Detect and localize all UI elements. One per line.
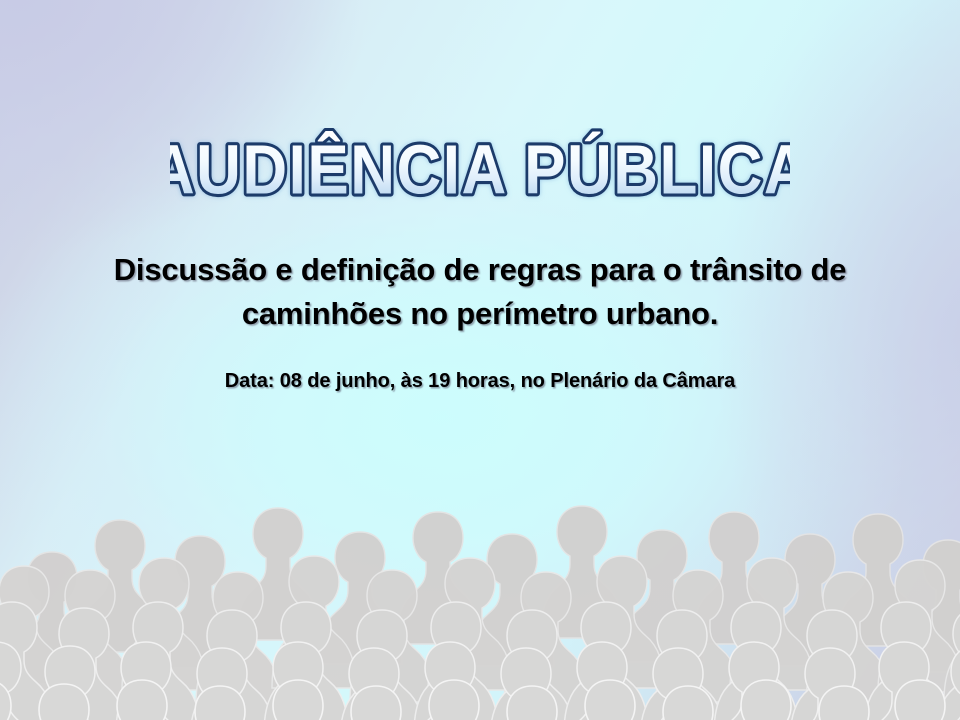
page-title: AUDIÊNCIA PÚBLICA AUDIÊNCIA PÚBLICA <box>0 128 960 214</box>
slide-subtitle-line-1: Discussão e definição de regras para o t… <box>80 248 880 292</box>
page-title-art: AUDIÊNCIA PÚBLICA AUDIÊNCIA PÚBLICA <box>170 128 790 214</box>
slide-subtitle: Discussão e definição de regras para o t… <box>80 248 880 336</box>
slide-subtitle-line-2: caminhões no perímetro urbano. <box>80 292 880 336</box>
page-title-fill: AUDIÊNCIA PÚBLICA <box>170 130 790 208</box>
slide-date-line: Data: 08 de junho, às 19 horas, no Plená… <box>80 370 880 393</box>
slide-content: AUDIÊNCIA PÚBLICA AUDIÊNCIA PÚBLICA Disc… <box>0 0 960 720</box>
presentation-slide: AUDIÊNCIA PÚBLICA AUDIÊNCIA PÚBLICA Disc… <box>0 0 960 720</box>
